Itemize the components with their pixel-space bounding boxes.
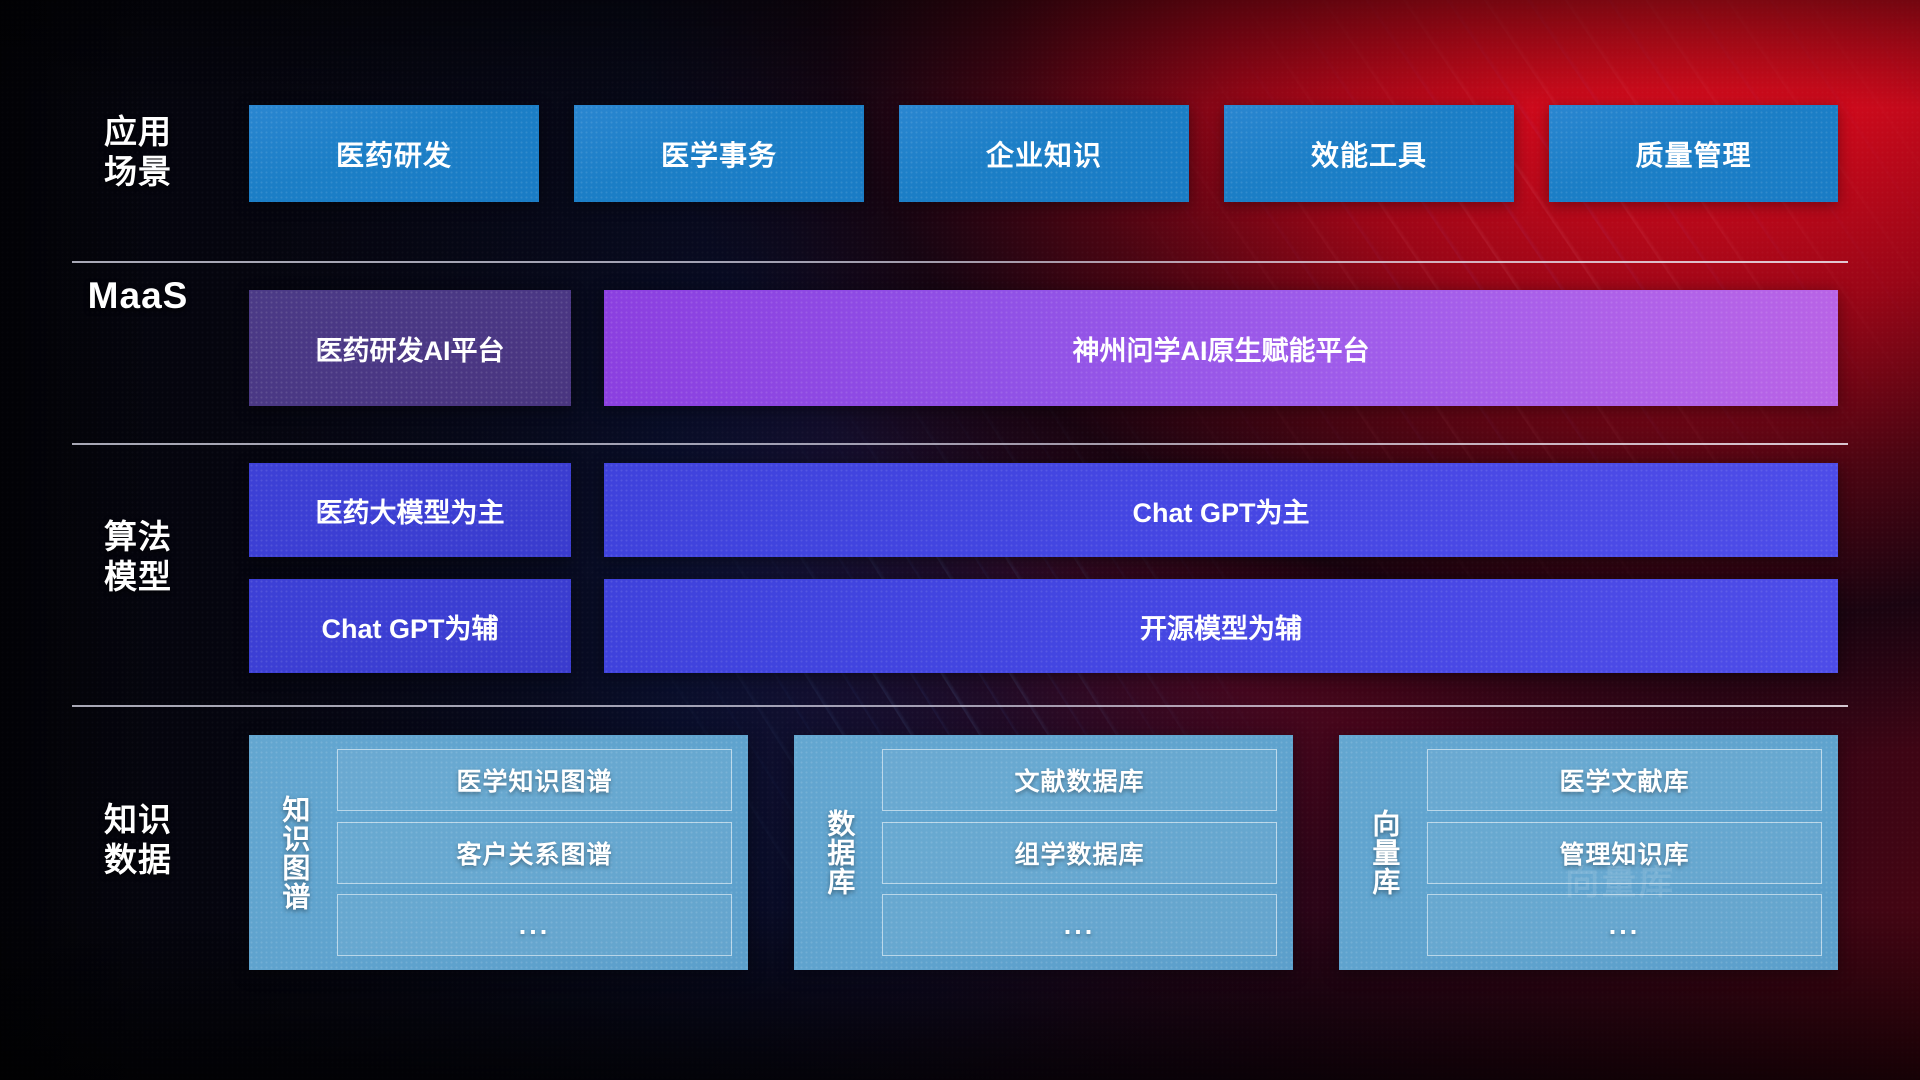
algorithm-card-primary-left-label: 医药大模型为主 <box>316 491 505 530</box>
algorithm-card-secondary-left-label: Chat GPT为辅 <box>321 607 498 646</box>
maas-card-shenzhou-platform[interactable]: 神州问学AI原生赋能平台 <box>604 290 1838 406</box>
knowledge-group-database[interactable]: 数据库 文献数据库 组学数据库 ... <box>794 735 1293 970</box>
row-label-knowledge: 知识 数据 <box>72 800 204 881</box>
knowledge-item-database-1[interactable]: 文献数据库 <box>882 749 1277 811</box>
maas-card-pharma-platform-label: 医药研发AI平台 <box>316 329 505 368</box>
algorithm-card-secondary-right-label: 开源模型为辅 <box>1140 607 1302 646</box>
divider-3 <box>72 705 1848 707</box>
knowledge-item-graph-2[interactable]: 客户关系图谱 <box>337 822 732 884</box>
row-label-maas: MaaS <box>72 273 204 318</box>
app-scenario-card-1[interactable]: 医药研发 <box>249 105 539 202</box>
knowledge-group-vector-title: 向量库 <box>1353 749 1415 956</box>
algorithm-card-secondary-left[interactable]: Chat GPT为辅 <box>249 579 571 673</box>
knowledge-item-vector-more[interactable]: ... <box>1427 894 1822 956</box>
knowledge-group-graph-title: 知识图谱 <box>263 749 325 956</box>
app-scenario-card-2[interactable]: 医学事务 <box>574 105 864 202</box>
app-scenario-label-1: 医药研发 <box>336 134 452 174</box>
maas-card-pharma-platform[interactable]: 医药研发AI平台 <box>249 290 571 406</box>
divider-1 <box>72 261 1848 263</box>
knowledge-item-database-more[interactable]: ... <box>882 894 1277 956</box>
algorithm-card-primary-right[interactable]: Chat GPT为主 <box>604 463 1838 557</box>
row-label-algorithm: 算法 模型 <box>72 517 204 598</box>
knowledge-group-vector-items: 医学文献库 管理知识库 ... <box>1427 749 1822 956</box>
divider-2 <box>72 443 1848 445</box>
knowledge-item-graph-more[interactable]: ... <box>337 894 732 956</box>
app-scenario-label-5: 质量管理 <box>1635 134 1751 174</box>
maas-card-shenzhou-platform-label: 神州问学AI原生赋能平台 <box>1073 329 1370 368</box>
slide-canvas: 应用 场景 医药研发 医学事务 企业知识 效能工具 质量管理 MaaS 医药研发… <box>0 0 1920 1080</box>
knowledge-group-database-title: 数据库 <box>808 749 870 956</box>
algorithm-card-primary-right-label: Chat GPT为主 <box>1132 491 1309 530</box>
app-scenario-card-3[interactable]: 企业知识 <box>899 105 1189 202</box>
knowledge-item-graph-1[interactable]: 医学知识图谱 <box>337 749 732 811</box>
knowledge-group-graph-items: 医学知识图谱 客户关系图谱 ... <box>337 749 732 956</box>
app-scenario-label-3: 企业知识 <box>986 134 1102 174</box>
knowledge-item-database-2[interactable]: 组学数据库 <box>882 822 1277 884</box>
algorithm-card-primary-left[interactable]: 医药大模型为主 <box>249 463 571 557</box>
app-scenario-card-4[interactable]: 效能工具 <box>1224 105 1514 202</box>
knowledge-item-vector-2[interactable]: 管理知识库 <box>1427 822 1822 884</box>
knowledge-group-graph[interactable]: 知识图谱 医学知识图谱 客户关系图谱 ... <box>249 735 748 970</box>
app-scenario-label-2: 医学事务 <box>661 134 777 174</box>
knowledge-item-vector-1[interactable]: 医学文献库 <box>1427 749 1822 811</box>
row-label-application: 应用 场景 <box>72 112 204 193</box>
algorithm-card-secondary-right[interactable]: 开源模型为辅 <box>604 579 1838 673</box>
app-scenario-card-5[interactable]: 质量管理 <box>1549 105 1838 202</box>
knowledge-group-vector[interactable]: 向量库 医学文献库 管理知识库 ... <box>1339 735 1838 970</box>
knowledge-group-database-items: 文献数据库 组学数据库 ... <box>882 749 1277 956</box>
app-scenario-label-4: 效能工具 <box>1311 134 1427 174</box>
